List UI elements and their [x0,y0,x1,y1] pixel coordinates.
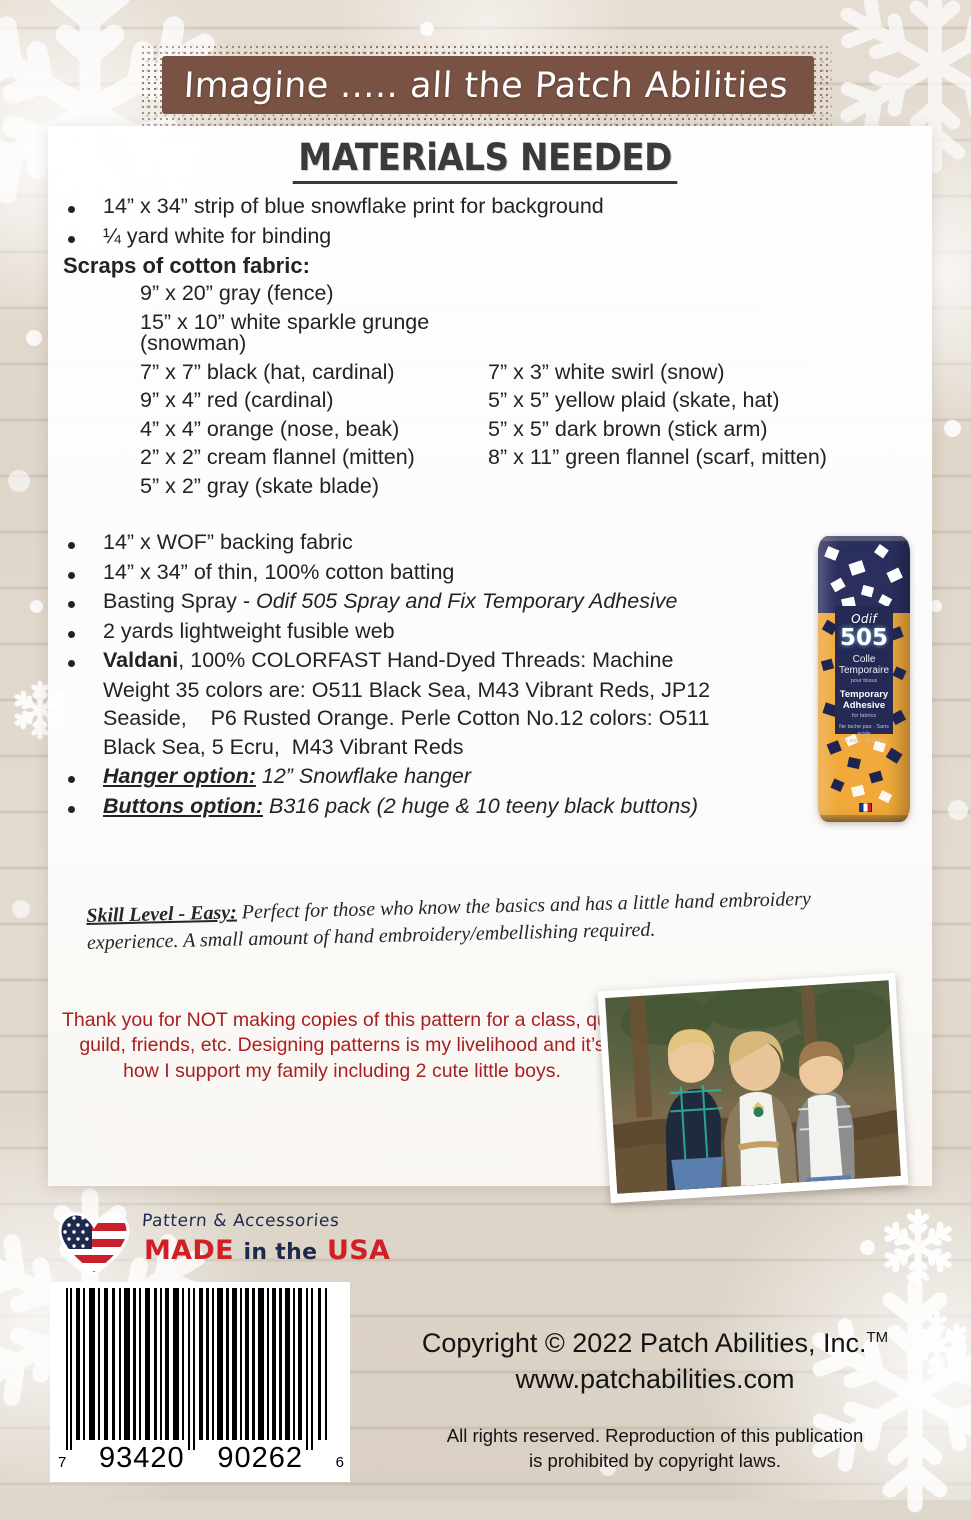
list-item: 14” x 34” of thin, 100% cotton batting [48,562,932,584]
basting-product: Odif 505 Spray and Fix Temporary Adhesiv… [256,589,677,613]
barcode-right-digit: 6 [336,1454,344,1471]
hanger-option-label: Hanger option: [103,764,256,788]
valdani-line-4: Black Sea, 5 Ecru, M43 Vibrant Reds [103,737,932,759]
website-link[interactable]: www.patchabilities.com [372,1364,938,1395]
rights-line-2: is prohibited by copyright laws. [372,1449,938,1474]
can-english-small: for fabrics [835,713,893,720]
can-french-line2: Temporaire [835,665,893,676]
family-photo [598,973,909,1203]
can-french-line1: Colle [835,654,893,665]
table-row: 9” x 20” gray (fence) [140,283,932,305]
can-french-small: pour tissus [835,678,893,685]
rights-line-1: All rights reserved. Reproduction of thi… [372,1424,938,1449]
scrap-left: 2” x 2” cream flannel (mitten) [140,447,488,469]
banner-title: Imagine ..... all the Patch Abilities [138,44,834,128]
scrap-left: 5” x 2” gray (skate blade) [140,476,488,498]
list-item-valdani: Valdani, 100% COLORFAST Hand-Dyed Thread… [48,650,932,672]
scrap-left: 4” x 4” orange (nose, beak) [140,419,488,441]
scrap-left: 9” x 4” red (cardinal) [140,390,488,412]
odif-505-spray-can-image: Odif 505 Colle Temporaire pour tissus Te… [818,536,910,822]
table-row: 2” x 2” cream flannel (mitten) 8” x 11” … [140,447,932,469]
list-item: 2 yards lightweight fusible web [48,621,932,643]
copyright-text: Copyright © 2022 Patch Abilities, Inc. [422,1328,867,1358]
scrap-right: 5” x 5” dark brown (stick arm) [488,419,932,441]
barcode-bars [66,1288,334,1440]
valdani-brand: Valdani [103,648,178,672]
table-row: 7” x 7” black (hat, cardinal) 7” x 3” wh… [140,362,932,384]
valdani-line-2: Weight 35 colors are: O511 Black Sea, M4… [103,680,932,702]
basting-prefix: Basting Spray - [103,589,256,613]
scrap-right [488,312,932,355]
materials-list: 14” x 34” strip of blue snowflake print … [48,196,932,825]
can-english-line1: Temporary [835,690,893,700]
table-row: 9” x 4” red (cardinal) 5” x 5” yellow pl… [140,390,932,412]
scraps-heading: Scraps of cotton fabric: [63,255,932,277]
header-banner: Imagine ..... all the Patch Abilities [140,44,832,128]
list-item: ¼ yard white for binding [48,226,932,248]
scraps-table: 9” x 20” gray (fence) 15” x 10” white sp… [140,283,932,497]
barcode-left-digit: 7 [58,1454,66,1471]
scrap-left: 7” x 7” black (hat, cardinal) [140,362,488,384]
scrap-right [488,476,932,498]
valdani-line-3: Seaside, P6 Rusted Orange. Perle Cotton … [103,708,932,730]
table-row: 5” x 2” gray (skate blade) [140,476,932,498]
badge-usa: USA [327,1235,390,1266]
can-fine-print: Ne tache pas · Sans acide No stain · Aci… [835,724,893,745]
copy-protection-notice: Thank you for NOT making copies of this … [62,1008,622,1084]
valdani-rest: , 100% COLORFAST Hand-Dyed Threads: Mach… [178,648,673,672]
can-bottom-rim [820,815,908,822]
barcode-group-2: 90262 [217,1442,303,1475]
family-photo-image [605,980,901,1193]
scrap-left: 9” x 20” gray (fence) [140,283,488,305]
badge-tagline: Pattern & Accessories [141,1211,340,1231]
list-item-buttons-option: Buttons option: B316 pack (2 huge & 10 t… [48,796,932,818]
barcode: 7 93420 90262 6 [50,1282,350,1482]
barcode-numbers: 7 93420 90262 6 [58,1442,344,1475]
can-product-number: 505 [835,627,893,650]
top-bullet-list: 14” x 34” strip of blue snowflake print … [48,196,932,247]
scrap-left: 15” x 10” white sparkle grunge (snowman) [140,312,488,355]
scrap-right: 7” x 3” white swirl (snow) [488,362,932,384]
rights-reserved-note: All rights reserved. Reproduction of thi… [372,1424,938,1474]
buttons-option-label: Buttons option: [103,794,263,818]
can-brand: Odif [835,612,893,626]
trademark-symbol: TM [866,1329,888,1346]
badge-made: MADE [144,1235,234,1266]
made-in-usa-badge: Pattern & Accessories MADE in the USA [58,1209,348,1285]
scrap-right: 5” x 5” yellow plaid (skate, hat) [488,390,932,412]
page-title: MATERiALS NEEDED [0,136,971,184]
scrap-right: 8” x 11” green flannel (scarf, mitten) [488,447,932,469]
can-top-rim [821,536,907,541]
valdani-continuation: Weight 35 colors are: O511 Black Sea, M4… [48,680,932,759]
can-body: Odif 505 Colle Temporaire pour tissus Te… [818,536,910,822]
table-row: 4” x 4” orange (nose, beak) 5” x 5” dark… [140,419,932,441]
page-title-text: MATERiALS NEEDED [293,136,678,184]
table-row: 15” x 10” white sparkle grunge (snowman) [140,312,932,355]
list-item-basting-spray: Basting Spray - Odif 505 Spray and Fix T… [48,591,932,613]
scrap-right [488,283,932,305]
badge-in-the: in the [244,1240,318,1265]
list-item-hanger-option: Hanger option: 12” Snowflake hanger [48,766,932,788]
buttons-option-value: B316 pack (2 huge & 10 teeny black butto… [269,794,698,818]
badge-made-in-usa: MADE in the USA [144,1235,390,1266]
list-item: 14” x 34” strip of blue snowflake print … [48,196,932,218]
photo-illustration [605,980,901,1193]
french-flag-icon [859,803,872,812]
bottom-bullet-list: 14” x WOF” backing fabric 14” x 34” of t… [48,532,932,672]
usa-flag-heart-icon [58,1211,130,1277]
hanger-option-value: 12” Snowflake hanger [262,764,471,788]
barcode-group-1: 93420 [99,1442,185,1475]
list-item: 14” x WOF” backing fabric [48,532,932,554]
option-bullet-list: Hanger option: 12” Snowflake hanger Butt… [48,766,932,817]
can-front-label: Odif 505 Colle Temporaire pour tissus Te… [835,606,893,734]
can-english-line2: Adhesive [835,701,893,711]
skill-level-label: Skill Level - Easy: [86,901,237,927]
copyright-line: Copyright © 2022 Patch Abilities, Inc.TM [372,1328,938,1359]
